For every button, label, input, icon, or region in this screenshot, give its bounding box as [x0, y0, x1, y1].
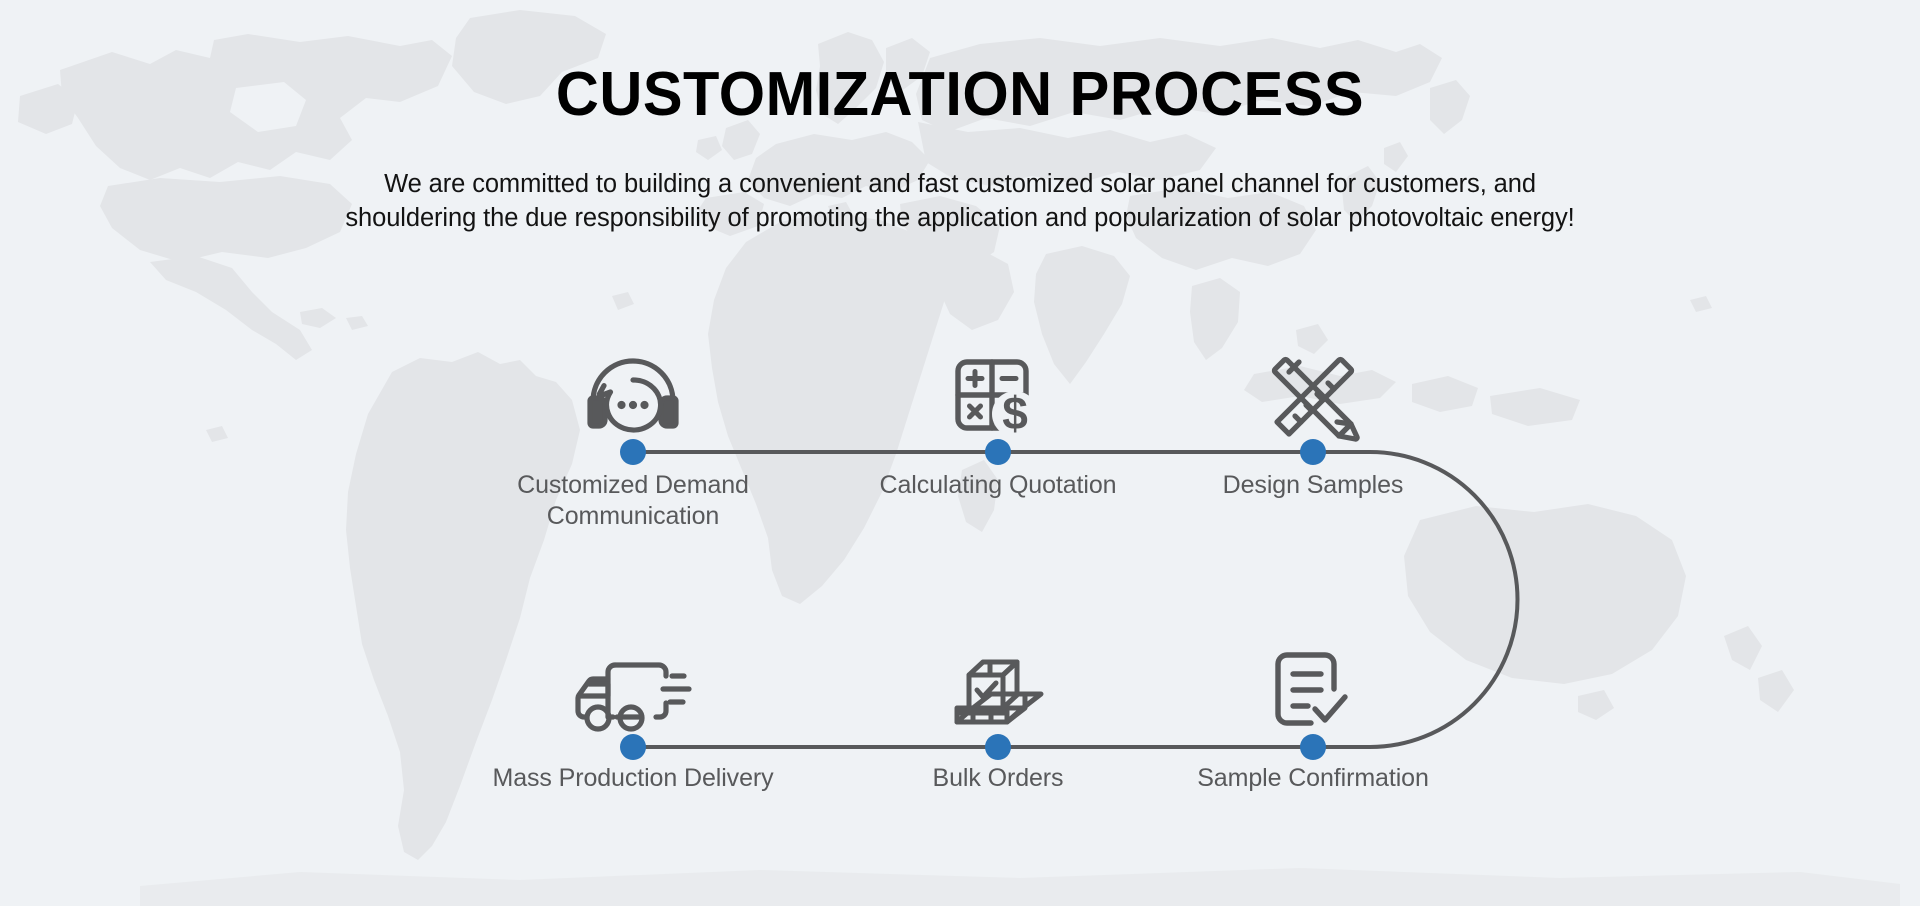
step-design-samples[interactable]: Design Samples	[1153, 318, 1473, 501]
pencil-ruler-icon	[1153, 318, 1473, 442]
document-check-icon	[1153, 613, 1473, 737]
step-label: Calculating Quotation	[838, 470, 1158, 501]
customization-process-page: CUSTOMIZATION PROCESS We are committed t…	[0, 0, 1920, 906]
page-subtitle: We are committed to building a convenien…	[325, 168, 1595, 236]
step-label: Design Samples	[1153, 470, 1473, 501]
headset-chat-icon	[473, 318, 793, 442]
svg-text:$: $	[1002, 387, 1028, 439]
step-label: Customized Demand Communication	[473, 470, 793, 533]
delivery-truck-icon	[473, 613, 793, 737]
calculator-dollar-icon: $	[838, 318, 1158, 442]
step-bulk-orders[interactable]: Bulk Orders	[838, 613, 1158, 794]
step-label: Mass Production Delivery	[473, 763, 793, 794]
step-customized-demand-communication[interactable]: Customized Demand Communication	[473, 318, 793, 533]
box-pallet-check-icon	[838, 613, 1158, 737]
step-label: Bulk Orders	[838, 763, 1158, 794]
step-label: Sample Confirmation	[1153, 763, 1473, 794]
step-calculating-quotation[interactable]: $ Calculating Quotation	[838, 318, 1158, 501]
step-mass-production-delivery[interactable]: Mass Production Delivery	[473, 613, 793, 794]
page-title: CUSTOMIZATION PROCESS	[38, 62, 1881, 127]
step-sample-confirmation[interactable]: Sample Confirmation	[1153, 613, 1473, 794]
